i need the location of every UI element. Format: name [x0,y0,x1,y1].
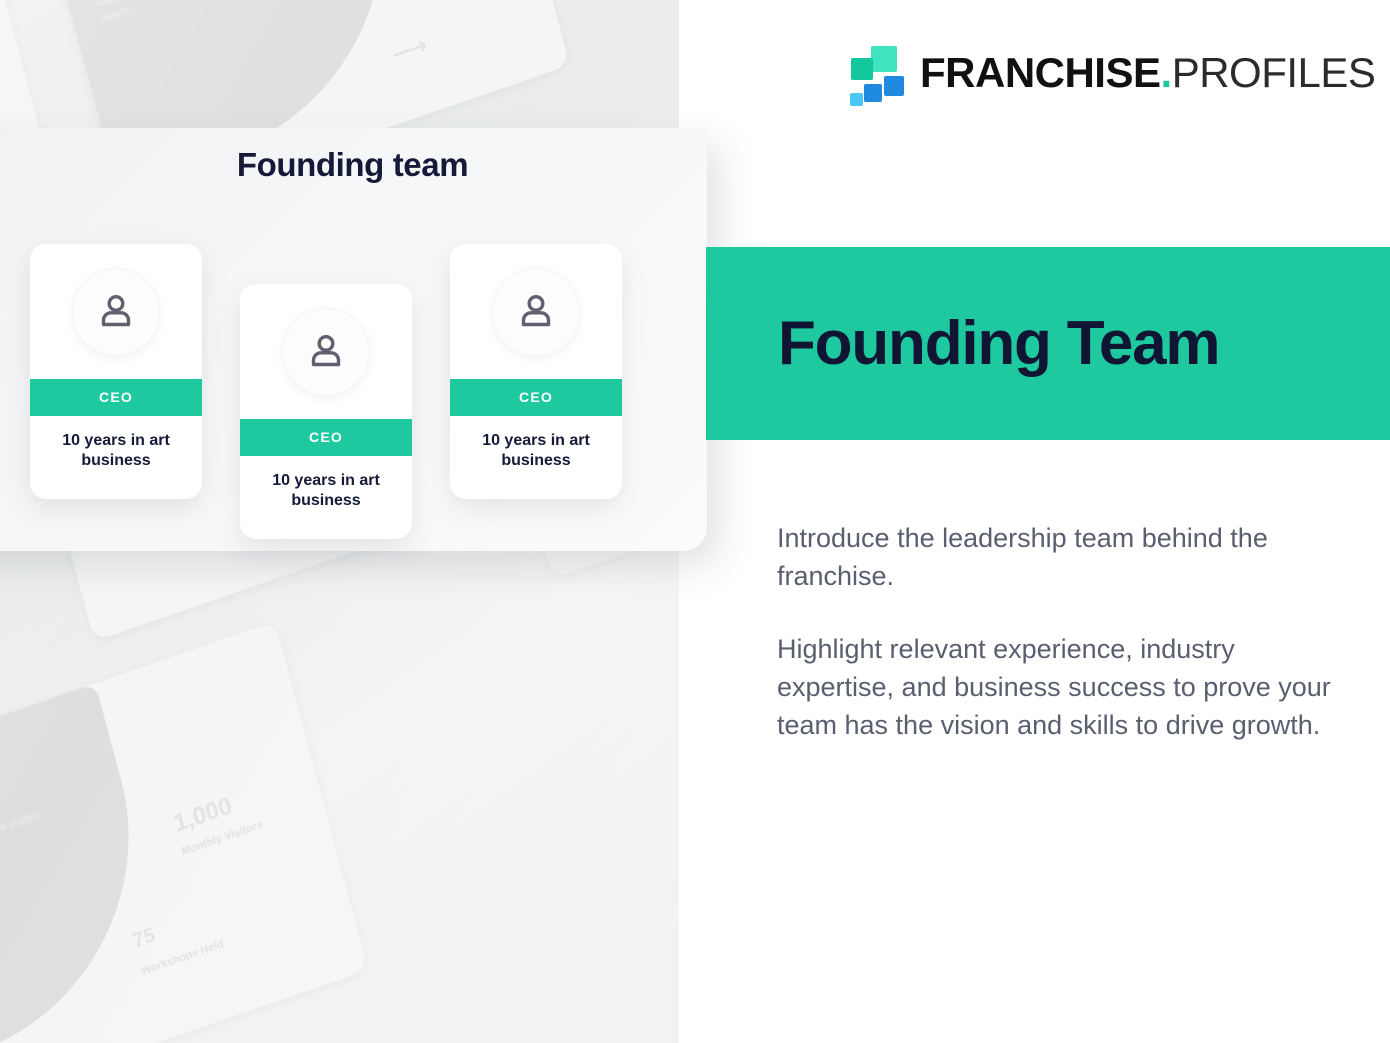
headline-banner: Founding Team [706,247,1390,440]
squares-logo-icon [850,44,902,102]
experience-note: 10 years in art business [30,416,202,489]
avatar [240,284,412,419]
brand-name-light: PROFILES [1172,49,1376,96]
logo-square-blue-large [884,76,904,96]
person-icon [514,290,558,334]
person-icon [94,290,138,334]
logo-square-cyan [850,93,863,106]
collage-slide-traction: TRACTION Significant milestones demonstr… [0,621,368,1043]
role-badge: CEO [30,379,202,416]
preview-panel: Founding team CEO 10 years in art busine… [0,128,707,551]
avatar [30,244,202,379]
logo-square-blue-small [864,84,882,102]
brand-name-dot: . [1161,49,1172,96]
logo-square-teal-light [871,46,897,72]
traction-blob [0,683,176,1043]
page-title: Founding Team [778,313,1219,375]
traction-stat-value-2: 75 [131,924,158,954]
team-card-list: CEO 10 years in art business CEO 10 year… [0,128,707,551]
team-card[interactable]: CEO 10 years in art business [240,284,412,539]
logo-square-teal-dark [851,58,873,80]
team-card[interactable]: CEO 10 years in art business [450,244,622,499]
avatar-circle [282,308,370,396]
person-icon [304,330,348,374]
description-block: Introduce the leadership team behind the… [777,519,1343,745]
brand-name-bold: FRANCHISE [920,49,1161,96]
avatar-circle [72,268,160,356]
brand-logo[interactable]: FRANCHISE.PROFILES [850,44,1375,102]
role-badge: CEO [240,419,412,456]
description-paragraph-1: Introduce the leadership team behind the… [777,519,1343,596]
team-card[interactable]: CEO 10 years in art business [30,244,202,499]
avatar-circle [492,268,580,356]
role-badge: CEO [450,379,622,416]
experience-note: 10 years in art business [450,416,622,489]
avatar [450,244,622,379]
description-paragraph-2: Highlight relevant experience, industry … [777,630,1343,745]
problem-arrow-icon: ⟶ [388,31,430,68]
brand-wordmark: FRANCHISE.PROFILES [920,52,1375,94]
slide-root: COMPANY NAME Investor pitch deck MARKET … [0,0,1390,1043]
experience-note: 10 years in art business [240,456,412,529]
